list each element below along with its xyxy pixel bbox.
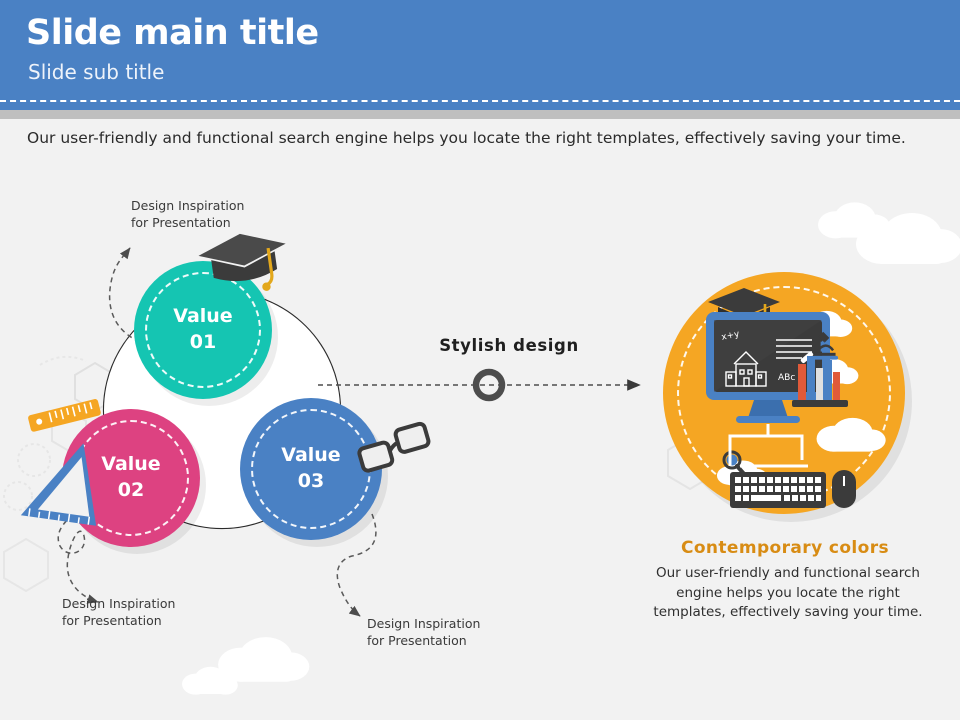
slide-header: Slide main title Slide sub title [0,0,960,110]
page-subtitle: Slide sub title [28,62,164,82]
value-circle-01-label: Value 01 [173,304,232,355]
page-title: Slide main title [26,16,319,51]
value-circle-02-label: Value 02 [101,452,160,503]
svg-text:ABc: ABc [778,373,795,383]
intro-text: Our user-friendly and functional search … [27,128,927,148]
highlight-body: Our user-friendly and functional search … [648,564,928,623]
highlight-title: Contemporary colors [640,538,930,558]
illustration-mouse-icon [832,470,856,508]
diagram-stage: Value 01 Value 02 [0,160,960,720]
header-gray-bar [0,110,960,119]
header-dashed-divider [0,100,960,102]
value-circle-03-label: Value 03 [281,443,340,494]
education-computer-illustration: x+y ABc [0,160,960,720]
illustration-cables [730,424,808,466]
illustration-keyboard-icon [730,472,826,508]
slide-canvas: Slide main title Slide sub title Our use… [0,0,960,720]
